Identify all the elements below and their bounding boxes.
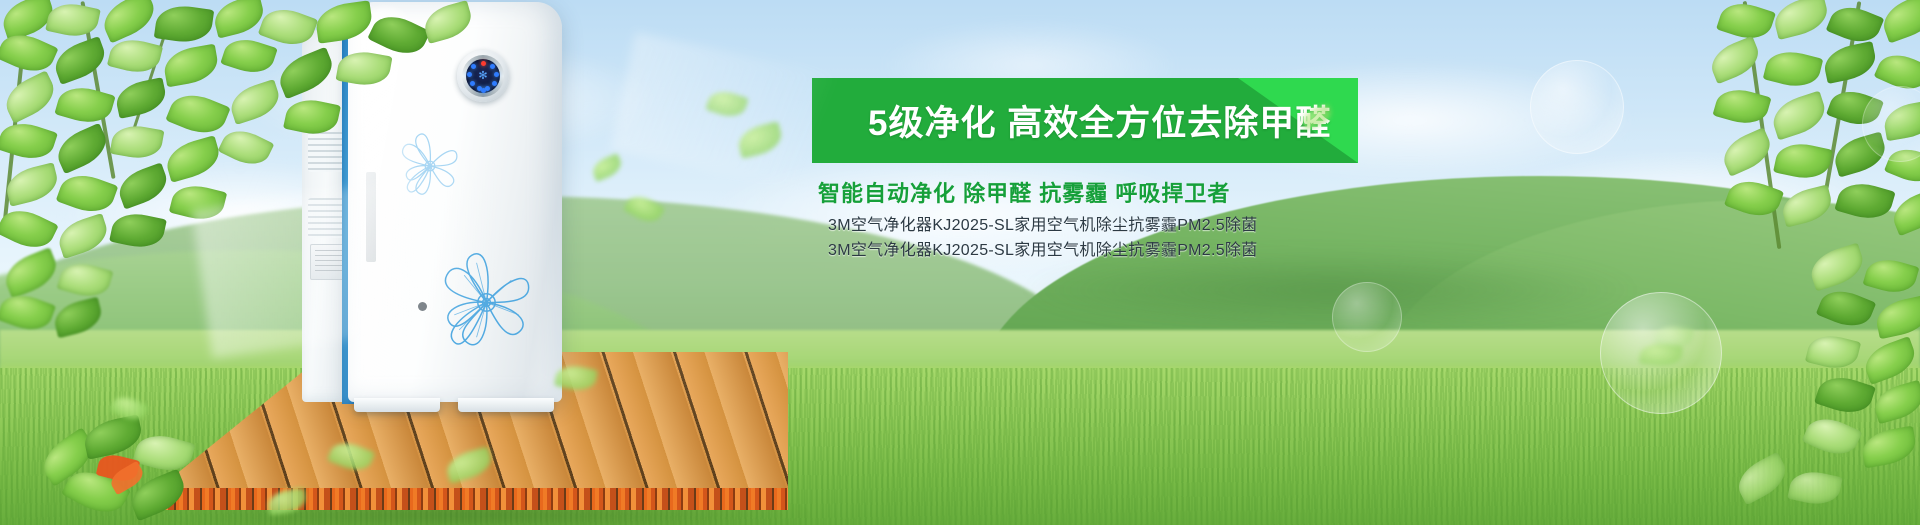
status-led-alert [481,61,486,66]
hill-shadow [1020,250,1640,330]
control-panel[interactable]: ✻ [457,50,509,102]
status-led [467,72,472,77]
status-led [481,88,486,93]
status-led [492,81,497,86]
status-led [471,64,476,69]
bubble [1530,60,1624,154]
deck-planks-edge [148,488,788,510]
purifier-foot [354,398,440,412]
purifier-seam [366,172,376,262]
control-panel-display: ✻ [466,59,500,93]
bubble [1332,282,1402,352]
headline-text: 5级净化 高效全方位去除甲醛 [868,78,1331,163]
product-description-line-2: 3M空气净化器KJ2025-SL家用空气机除尘抗雾霾PM2.5除菌 [828,236,1258,260]
flower-decal-icon [382,118,478,214]
status-led [494,72,499,77]
headline-banner: 5级净化 高效全方位去除甲醛 [812,78,1358,163]
snowflake-icon: ✻ [478,71,488,81]
purifier-foot [458,398,554,412]
status-led [470,81,475,86]
status-led [490,64,495,69]
flower-decal-large-icon [422,238,546,362]
product-description-line-1: 3M空气净化器KJ2025-SL家用空气机除尘抗雾霾PM2.5除菌 [828,211,1258,235]
subtitle-text: 智能自动净化 除甲醛 抗雾霾 呼吸捍卫者 [818,176,1230,208]
product-promo-banner: ✻ [0,0,1920,525]
